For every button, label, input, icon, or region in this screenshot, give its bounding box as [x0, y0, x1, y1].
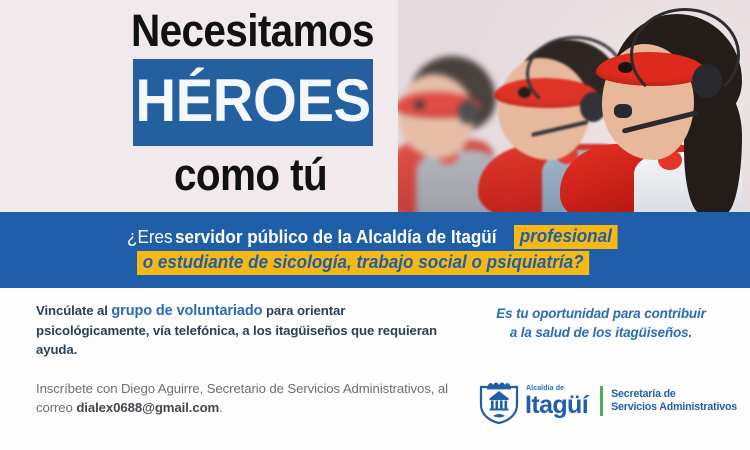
volunteer-paragraph: Vincúlate al grupo de voluntariado para … [36, 301, 456, 359]
question-banner: ¿Eres servidor público de la Alcaldía de… [0, 212, 750, 288]
logo-divider [600, 386, 603, 416]
question-line-2: o estudiante de sicología, trabajo socia… [137, 251, 613, 275]
headline-line-2: HÉROES [140, 57, 366, 144]
question-highlight-1: profesional [514, 225, 618, 249]
signup-text-post: . [219, 400, 223, 415]
logo-department: Secretaría de Servicios Administrativos [611, 388, 737, 414]
bottom-section: Vincúlate al grupo de voluntariado para … [0, 288, 750, 450]
headset-earpiece-icon [692, 64, 722, 98]
headline-line-1: Necesitamos [131, 6, 374, 56]
slogan-line-2: a la salud de los itagüiseños. [470, 323, 732, 342]
logo-wordmark: Alcaldía de Itagüí [525, 385, 588, 417]
headline-highlight-box: HÉROES [133, 59, 373, 146]
hero-photo [398, 0, 750, 212]
headline-block: Necesitamos HÉROES como tú [0, 0, 400, 212]
question-prefix: ¿Eres [127, 227, 173, 248]
body-left-column: Vincúlate al grupo de voluntariado para … [36, 301, 456, 417]
volunteer-text-pre: Vincúlate al [36, 303, 111, 318]
logo-city-name: Itagüí [525, 393, 588, 417]
body-right-column: Es tu oportunidad para contribuir a la s… [470, 304, 732, 342]
logo-department-line-1: Secretaría de [611, 388, 737, 401]
logo-lockup: Alcaldía de Itagüí Secretaría de Servici… [478, 378, 737, 424]
hero-woman-front [574, 0, 750, 212]
headset-microphone-tip-icon [614, 104, 632, 118]
volunteer-group-accent: grupo de voluntariado [111, 303, 262, 319]
hero-section: Necesitamos HÉROES como tú [0, 0, 750, 212]
logo-department-line-2: Servicios Administrativos [611, 401, 737, 414]
headset-band-icon [630, 8, 740, 102]
question-highlight-2: o estudiante de sicología, trabajo socia… [137, 251, 589, 275]
eye [414, 100, 425, 109]
itagui-shield-crest-icon [478, 378, 520, 424]
poster-root: Necesitamos HÉROES como tú ¿Eres servido… [0, 0, 750, 450]
question-line-1: ¿Eres servidor público de la Alcaldía de… [127, 225, 622, 249]
headline-line-3: como tú [174, 150, 327, 200]
signup-paragraph: Inscríbete con Diego Aguirre, Secretario… [36, 379, 456, 417]
question-bold: servidor público de la Alcaldía de Itagü… [175, 227, 497, 248]
contact-email[interactable]: dialex0688@gmail.com [76, 400, 219, 415]
slogan-line-1: Es tu oportunidad para contribuir [470, 304, 732, 323]
